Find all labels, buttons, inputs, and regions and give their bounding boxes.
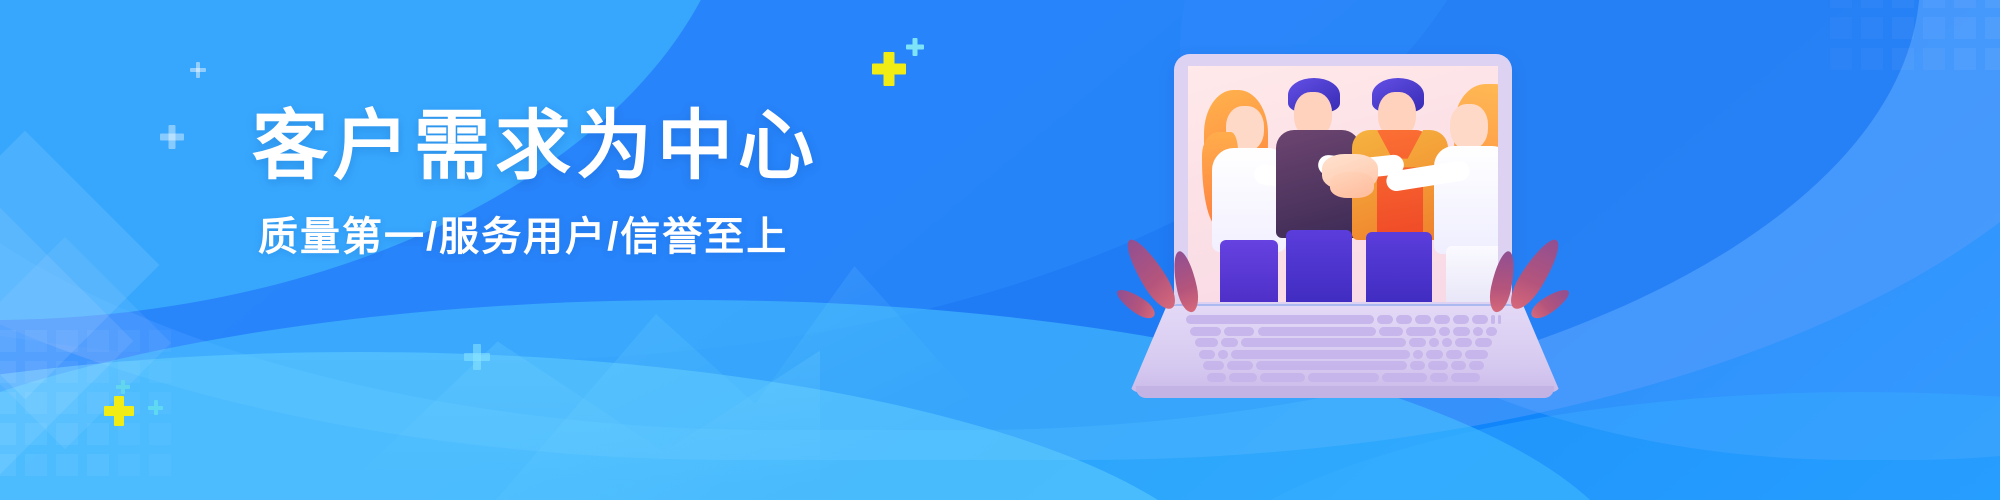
keyboard-key xyxy=(1256,361,1407,370)
grid-square xyxy=(1923,17,1945,39)
grid-square xyxy=(149,361,171,383)
keyboard-key xyxy=(1451,373,1480,382)
banner-subtitle: 质量第一/服务用户/信誉至上 xyxy=(258,213,812,261)
keyboard-key xyxy=(1442,338,1452,347)
grid-square xyxy=(0,330,16,352)
keyboard-key xyxy=(1473,327,1483,336)
keyboard-key xyxy=(1453,315,1469,324)
plus-white-mid-left-icon xyxy=(160,125,184,149)
laptop-lid xyxy=(1174,54,1512,310)
grid-square xyxy=(149,330,171,352)
keyboard-key xyxy=(1430,373,1448,382)
grid-square xyxy=(56,392,78,414)
grid-square xyxy=(56,423,78,445)
grid-square xyxy=(1985,0,2000,8)
laptop-foot xyxy=(1136,386,1554,398)
keyboard-key xyxy=(1415,315,1431,324)
grid-square xyxy=(25,423,47,445)
grid-square xyxy=(0,392,16,414)
keyboard-key xyxy=(1190,327,1221,336)
keyboard-key xyxy=(1434,315,1450,324)
keyboard-key xyxy=(1224,327,1255,336)
grid-square xyxy=(87,361,109,383)
joined-hands-lower xyxy=(1330,172,1374,198)
keyboard-key xyxy=(1207,373,1225,382)
grid-square xyxy=(1923,0,1945,8)
grid-square xyxy=(1985,48,2000,70)
grid-square xyxy=(0,454,16,476)
keyboard-key xyxy=(1465,350,1488,359)
keyboard-key xyxy=(1439,327,1449,336)
keyboard-key xyxy=(1446,350,1462,359)
grid-square xyxy=(118,454,140,476)
keyboard-key xyxy=(1229,373,1258,382)
grid-square xyxy=(56,454,78,476)
laptop-keyboard-base xyxy=(1130,306,1560,392)
grid-square xyxy=(118,330,140,352)
page-title: 客户需求为中心 xyxy=(252,104,812,191)
plus-yellow-large-bottom-left-icon xyxy=(104,396,134,426)
mountain-accent-one xyxy=(470,230,1090,500)
keyboard-key xyxy=(1241,338,1405,347)
grid-square xyxy=(87,454,109,476)
grid-square xyxy=(1861,0,1883,8)
banner-text-block: 客户需求为中心 质量第一/服务用户/信誉至上 xyxy=(252,104,812,261)
keyboard-key xyxy=(1469,361,1484,370)
mountain-accent-two xyxy=(300,300,820,500)
grid-square xyxy=(1923,48,1945,70)
keyboard-key xyxy=(1231,350,1410,359)
keyboard-key xyxy=(1410,361,1425,370)
grid-square xyxy=(1892,0,1914,8)
grid-square xyxy=(149,392,171,414)
grid-square xyxy=(1954,0,1976,8)
keyboard-key xyxy=(1491,315,1494,324)
grid-square xyxy=(25,330,47,352)
keyboard-key xyxy=(1377,315,1393,324)
keyboard-key xyxy=(1451,361,1466,370)
grid-square xyxy=(56,361,78,383)
grid-square xyxy=(25,361,47,383)
grid-square xyxy=(56,330,78,352)
keyboard-key xyxy=(1413,350,1423,359)
keyboard-key xyxy=(1258,327,1376,336)
keyboard-key xyxy=(1455,338,1472,347)
keyboard-key xyxy=(1227,361,1254,370)
plus-cyan-tiny-bottom-left-icon xyxy=(116,380,130,394)
promo-banner: 客户需求为中心 质量第一/服务用户/信誉至上 xyxy=(0,0,2000,500)
grid-square xyxy=(87,423,109,445)
grid-square xyxy=(87,330,109,352)
keyboard-key xyxy=(1426,350,1442,359)
grid-square xyxy=(1892,48,1914,70)
keyboard-key xyxy=(1199,350,1215,359)
keyboard-key xyxy=(1486,327,1496,336)
keyboard-key xyxy=(1406,327,1437,336)
plus-cyan-small-right-icon xyxy=(906,38,924,56)
plus-cyan-center-bottom-icon xyxy=(464,344,490,370)
keyboard-key xyxy=(1475,338,1492,347)
keyboard-key xyxy=(1195,338,1219,347)
keyboard-key xyxy=(1409,338,1426,347)
keyboard-key xyxy=(1260,373,1305,382)
plus-cyan-small-bottom-left-icon xyxy=(148,400,163,415)
grid-square xyxy=(1892,17,1914,39)
chevron-accent-two xyxy=(0,207,133,476)
grid-square xyxy=(149,423,171,445)
background-wave-bottom-two xyxy=(0,352,1240,500)
keyboard-key xyxy=(1453,327,1470,336)
grid-square xyxy=(118,361,140,383)
grid-square xyxy=(0,423,16,445)
grid-square xyxy=(1830,0,1852,8)
keyboard-key xyxy=(1382,373,1427,382)
chevron-accent-one xyxy=(0,131,159,400)
keyboard-key xyxy=(1498,315,1501,324)
laptop-team-illustration xyxy=(1130,54,1560,454)
grid-square xyxy=(25,454,47,476)
keyboard-key xyxy=(1429,338,1439,347)
grid-square xyxy=(149,454,171,476)
square-grid-bottom-left xyxy=(0,330,174,500)
person-woman-right xyxy=(1424,84,1498,302)
plus-yellow-large-right-icon xyxy=(872,52,906,86)
grid-square xyxy=(0,361,16,383)
grid-square xyxy=(1861,17,1883,39)
grid-square xyxy=(25,392,47,414)
grid-square xyxy=(1830,48,1852,70)
keyboard-key xyxy=(1396,315,1412,324)
head xyxy=(1450,104,1488,150)
keyboard-key xyxy=(1218,350,1228,359)
grid-square xyxy=(1830,17,1852,39)
keyboard-key xyxy=(1308,373,1379,382)
grid-square xyxy=(1954,48,1976,70)
grid-square xyxy=(1985,17,2000,39)
plus-white-top-left-icon xyxy=(190,62,206,78)
keyboard-key xyxy=(1203,361,1224,370)
grid-square xyxy=(1954,17,1976,39)
grid-square xyxy=(118,392,140,414)
grid-square xyxy=(87,392,109,414)
grid-square xyxy=(118,423,140,445)
legs xyxy=(1366,232,1432,302)
legs xyxy=(1286,230,1352,302)
keyboard-key xyxy=(1186,315,1374,324)
chevron-accent-three xyxy=(0,237,171,449)
keyboard-key xyxy=(1379,327,1403,336)
keyboard-key xyxy=(1472,315,1488,324)
grid-square xyxy=(1861,48,1883,70)
keyboard-key xyxy=(1221,338,1238,347)
square-grid-top-right xyxy=(1830,0,2000,106)
laptop-screen xyxy=(1188,66,1498,302)
keyboard-key xyxy=(1428,361,1449,370)
